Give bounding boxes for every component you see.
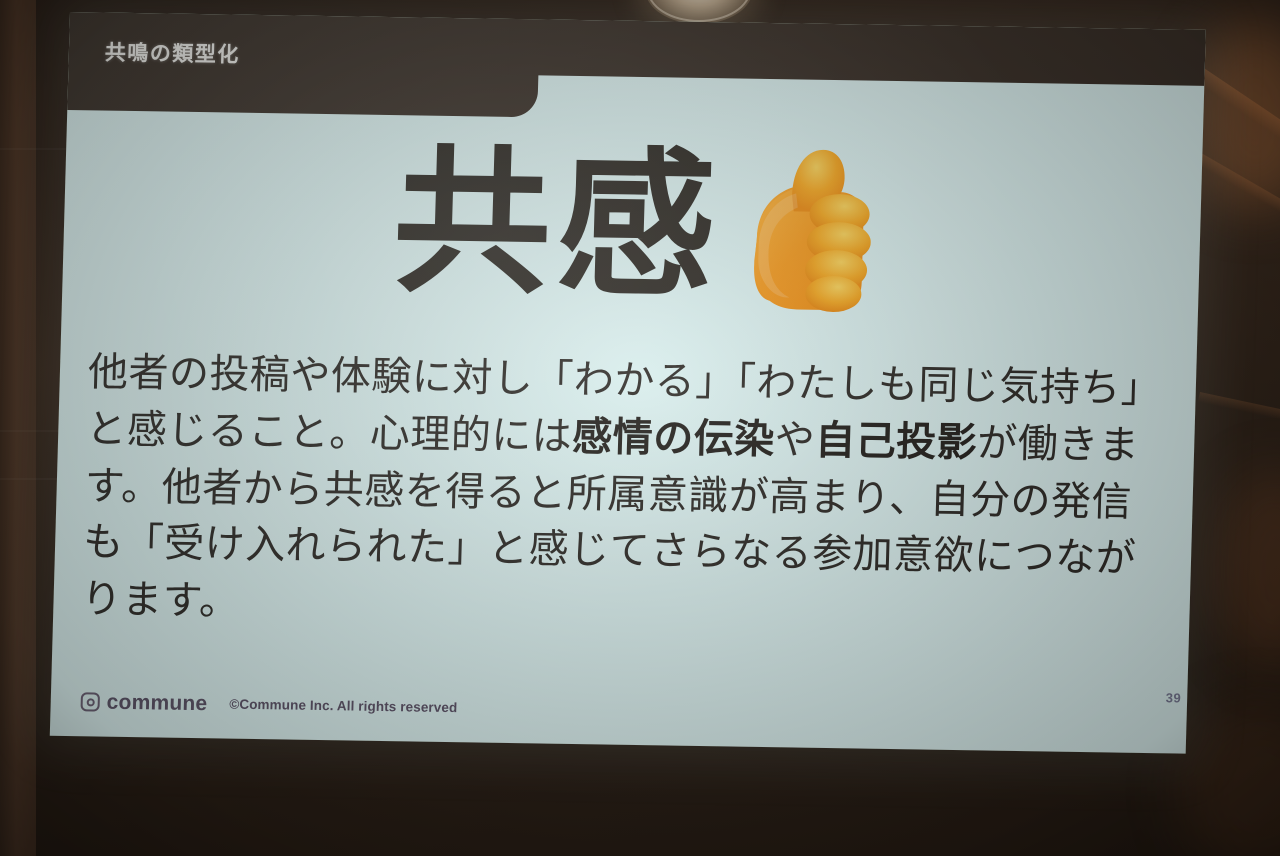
body-text: や [774,417,816,464]
slide-canvas: 共鳴の類型化 共感 [50,12,1206,754]
headline-text: 共感 [391,143,723,306]
body-emphasis: 自己投影 [815,418,978,467]
slide-header-title: 共鳴の類型化 [105,43,241,66]
room-pillar [0,0,36,856]
photo-scene: 共鳴の類型化 共感 [0,0,1280,856]
projected-slide: 共鳴の類型化 共感 [50,12,1206,754]
headline-row: 共感 [62,130,1203,322]
copyright-text: ©Commune Inc. All rights reserved [229,697,457,714]
page-number: 39 [1166,690,1182,705]
wall-seam [0,148,72,150]
slide-footer: commune ©Commune Inc. All rights reserve… [80,691,457,718]
brand-lockup: commune [80,691,207,714]
body-paragraph: 他者の投稿や体験に対し「わかる」「わたしも同じ気持ち」と感じること。心理的には感… [81,344,1175,645]
body-emphasis: 感情の伝染 [572,414,776,463]
brand-name: commune [106,692,207,715]
slide-header-band-extension [508,19,1205,86]
thumbs-up-emoji [745,141,874,317]
commune-logo-icon [80,692,100,711]
